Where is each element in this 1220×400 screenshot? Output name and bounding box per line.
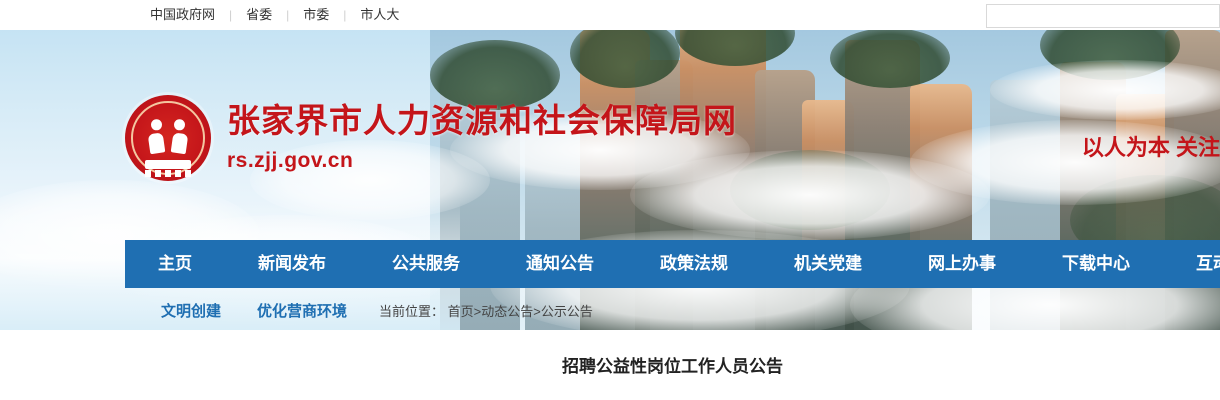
topbar-link-1[interactable]: 省委 — [232, 0, 286, 30]
topbar-link-0[interactable]: 中国政府网 — [136, 0, 229, 30]
main-navigation: 主页 新闻发布 公共服务 通知公告 政策法规 机关党建 网上办事 下载中心 互动… — [125, 240, 1220, 288]
search-input[interactable] — [987, 5, 1219, 27]
content-area: 招聘公益性岗位工作人员公告 — [125, 330, 1220, 400]
foliage-3 — [830, 28, 950, 88]
header-slogan: 以人为本 关注 — [1082, 130, 1220, 162]
site-url: rs.zjj.gov.cn — [227, 149, 737, 173]
nav-item-online[interactable]: 网上办事 — [895, 240, 1029, 288]
nav-item-interaction[interactable]: 互动交流 — [1163, 240, 1220, 288]
top-bar-links: 中国政府网 | 省委 | 市委 | 市人大 — [136, 0, 413, 30]
topbar-link-3[interactable]: 市人大 — [346, 0, 413, 30]
search-box[interactable] — [986, 4, 1220, 28]
emblem-bars — [145, 170, 191, 177]
content-left-gutter — [0, 330, 125, 400]
breadcrumb: 当前位置： 首页>动态公告>公示公告 — [379, 301, 593, 320]
nav-item-news[interactable]: 新闻发布 — [225, 240, 359, 288]
top-bar: 中国政府网 | 省委 | 市委 | 市人大 — [0, 0, 1220, 30]
emblem-head-right — [174, 119, 185, 130]
page-title: 招聘公益性岗位工作人员公告 — [125, 352, 1220, 377]
emblem-figures — [146, 119, 190, 153]
site-title: 张家界市人力资源和社会保障局网 — [227, 103, 737, 139]
nav-item-home[interactable]: 主页 — [125, 240, 225, 288]
nav-item-policies[interactable]: 政策法规 — [627, 240, 761, 288]
subnav-item-business-env[interactable]: 优化营商环境 — [239, 300, 365, 321]
page-root: 中国政府网 | 省委 | 市委 | 市人大 张家界市人力资源和社会保障局网 — [0, 0, 1220, 400]
emblem-body-right — [171, 132, 189, 154]
subnav-item-civilization[interactable]: 文明创建 — [125, 300, 239, 321]
sub-navigation: 文明创建 优化营商环境 当前位置： 首页>动态公告>公示公告 — [125, 288, 1220, 332]
topbar-link-2[interactable]: 市委 — [289, 0, 343, 30]
nav-item-services[interactable]: 公共服务 — [359, 240, 493, 288]
emblem-body-left — [148, 132, 166, 154]
government-emblem-icon — [125, 95, 211, 181]
nav-item-party[interactable]: 机关党建 — [761, 240, 895, 288]
nav-item-notices[interactable]: 通知公告 — [493, 240, 627, 288]
emblem-base — [145, 160, 191, 169]
logo-text-block: 张家界市人力资源和社会保障局网 rs.zjj.gov.cn — [227, 103, 737, 173]
nav-item-downloads[interactable]: 下载中心 — [1029, 240, 1163, 288]
emblem-head-left — [151, 119, 162, 130]
site-logo[interactable]: 张家界市人力资源和社会保障局网 rs.zjj.gov.cn — [125, 95, 737, 181]
